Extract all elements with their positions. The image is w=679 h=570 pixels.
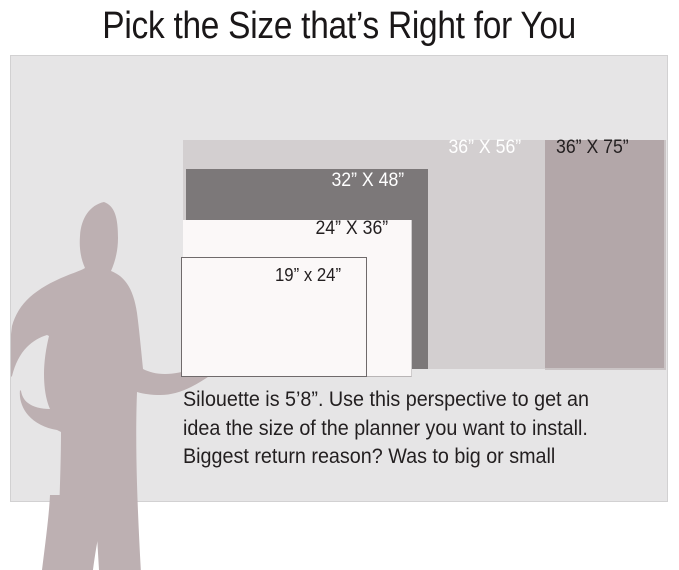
size-rect-36x75 (545, 140, 666, 370)
size-label-19x24: 19” x 24” (275, 265, 341, 285)
caption-block: Silouette is 5’8”. Use this perspective … (183, 386, 644, 472)
caption-line-3: Biggest return reason? Was to big or sma… (183, 443, 644, 472)
size-label-32x48: 32” X 48” (331, 171, 404, 191)
size-label-36x75: 36” X 75” (556, 138, 629, 158)
caption-line-1: Silouette is 5’8”. Use this perspective … (183, 386, 644, 415)
size-label-24x36: 24” X 36” (315, 219, 388, 239)
caption-line-2: idea the size of the planner you want to… (183, 415, 644, 444)
size-label-36x56: 36” X 56” (448, 138, 521, 158)
poster-image: Pick the Size that’s Right for You 36” X… (0, 0, 679, 570)
page-title: Pick the Size that’s Right for You (103, 6, 577, 46)
diagram-panel: 36” X 75” 36” X 56” 32” X 48” 24” X 36” … (10, 55, 668, 502)
title-bar: Pick the Size that’s Right for You (0, 0, 679, 52)
